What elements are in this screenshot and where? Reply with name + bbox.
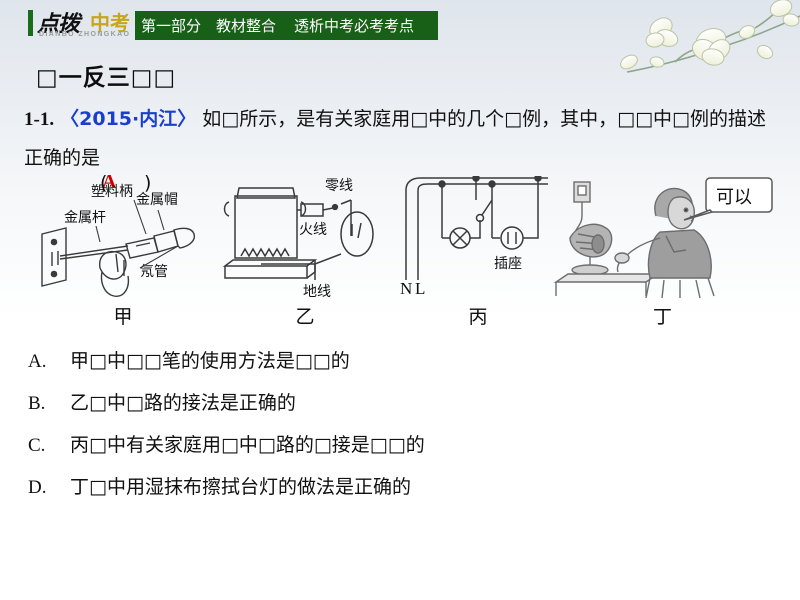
question-source: 〈2015·内江〉 [60,108,196,130]
figure-jia-label-plastic-handle: 塑料柄 [91,184,133,200]
figure-strip: 金属杆 塑料柄 金属帽 氖管 甲 [20,176,780,336]
option-d-label: D. [28,467,70,509]
figure-jia-label-neon-tube: 氖管 [140,264,168,280]
option-c[interactable]: C.丙□中有关家庭用□中□路的□接是□□的 [28,424,768,466]
logo-accent-bar [28,10,33,36]
header-green-band: 第一部分 教材整合 透析中考必考考点 [135,11,438,40]
slide-header: 点拨 中考 DIANBO ZHONGKAO 第一部分 教材整合 透析中考必考考点 [0,0,800,50]
figure-ding-speech-text: 可以 [716,187,752,208]
figure-yi-caption: 乙 [215,302,395,329]
figure-bing: 插座 N L 丙 [398,176,558,331]
figure-jia-label-metal-cap: 金属帽 [136,192,178,208]
logo-pinyin: DIANBO ZHONGKAO [39,31,130,38]
option-a-text: 甲□中□□笔的使用方法是□□的 [70,350,350,372]
figure-yi-label-ground: 地线 [303,284,331,300]
brand-logo: 点拨 中考 DIANBO ZHONGKAO [28,6,136,44]
option-d[interactable]: D.丁□中用湿抹布擦拭台灯的做法是正确的 [28,466,768,508]
option-a[interactable]: A.甲□中□□笔的使用方法是□□的 [28,340,768,382]
option-b-label: B. [28,383,70,425]
option-b[interactable]: B.乙□中□路的接法是正确的 [28,382,768,424]
figure-bing-label-l: L [415,279,425,298]
option-b-text: 乙□中□路的接法是正确的 [70,392,296,414]
options-list: A.甲□中□□笔的使用方法是□□的 B.乙□中□路的接法是正确的 C.丙□中有关… [28,340,768,508]
option-c-text: 丙□中有关家庭用□中□路的□接是□□的 [70,434,425,456]
option-d-text: 丁□中用湿抹布擦拭台灯的做法是正确的 [70,476,411,498]
question-number: 1-1. [24,109,54,130]
figure-yi: 零线 火线 地线 乙 [215,176,395,331]
slide-canvas: 点拨 中考 DIANBO ZHONGKAO 第一部分 教材整合 透析中考必考考点… [0,0,800,600]
option-c-label: C. [28,425,70,467]
option-a-label: A. [28,341,70,383]
figure-bing-caption: 丙 [398,302,558,329]
figure-ding-caption: 丁 [550,302,775,329]
figure-jia: 金属杆 塑料柄 金属帽 氖管 甲 [28,176,218,331]
question-stem: 1-1. 〈2015·内江〉 如□所示，是有关家庭用□中的几个□例，其中，□□中… [24,100,776,177]
figure-yi-label-neutral: 零线 [325,178,353,194]
figure-ding: 可以 丁 [550,176,775,331]
header-subtitle-label: 透析中考必考考点 [294,15,414,36]
figure-bing-label-n: N [400,279,412,298]
header-part-label: 第一部分 教材整合 [141,15,276,36]
figure-jia-label-metal-rod: 金属杆 [64,210,106,226]
figure-bing-label-socket: 插座 [494,256,522,272]
section-heading: □一反三□□ [36,58,176,92]
figure-yi-label-live: 火线 [299,222,327,238]
figure-jia-caption: 甲 [28,302,218,329]
